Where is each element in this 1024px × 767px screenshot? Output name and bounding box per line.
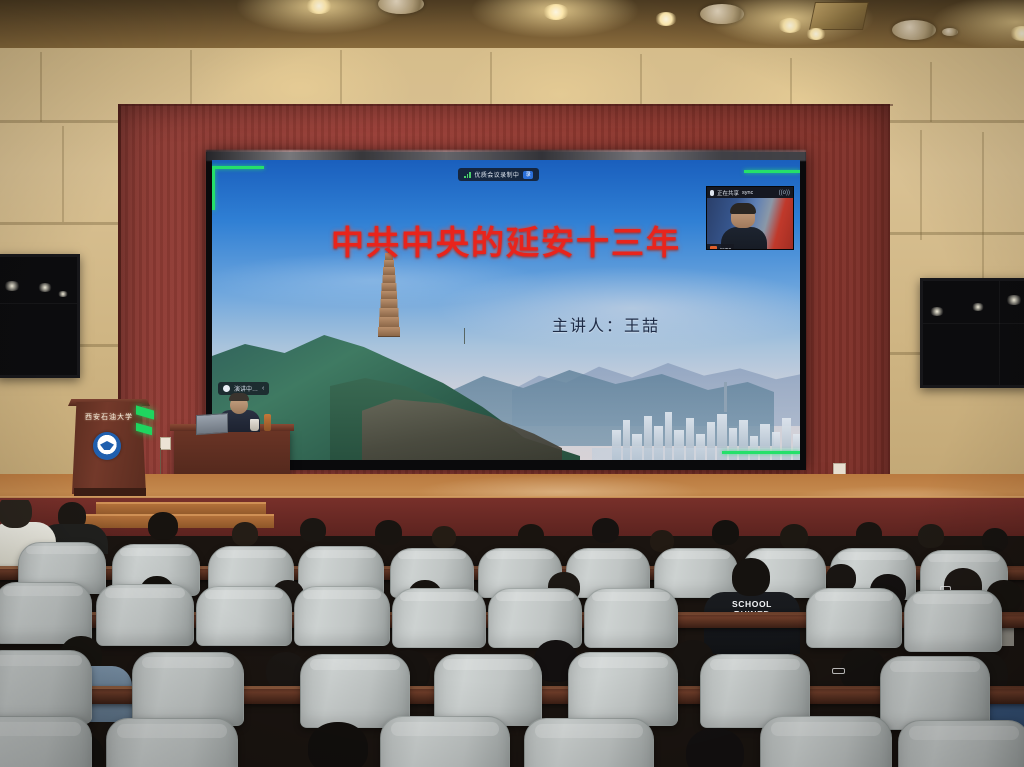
power-cable: [160, 448, 161, 474]
record-badge[interactable]: 录: [523, 171, 533, 179]
slide-river: [592, 448, 800, 460]
seat[interactable]: [96, 584, 194, 646]
audience-head: [982, 528, 1008, 552]
display-glare: [57, 291, 69, 297]
wall-trim: [884, 232, 1024, 235]
wall-panel-seam: [920, 130, 922, 240]
wall-display-left[interactable]: [0, 254, 80, 378]
conference-recording-bar[interactable]: 优质会议录制中 录: [458, 168, 539, 181]
seat[interactable]: [392, 588, 486, 648]
glasses-icon: [832, 668, 845, 674]
pip-participant-name: 正在共享: [717, 189, 739, 197]
user-icon: [710, 246, 717, 250]
audience-area: SCHOOL RUINED MY: [0, 500, 1024, 767]
microphone-icon: [710, 190, 714, 196]
slide-antenna: [464, 328, 465, 344]
audience-head: [518, 524, 544, 547]
ceiling-speaker-icon: [700, 4, 744, 24]
audience-head: [308, 722, 368, 767]
audience-head: [732, 558, 770, 596]
wall-panel-seam: [930, 62, 932, 122]
recording-label: 优质会议录制中: [475, 170, 520, 179]
seat[interactable]: [568, 652, 678, 726]
seat[interactable]: [524, 718, 654, 767]
wall-panel-seam: [62, 126, 64, 222]
share-border-top-left: [212, 166, 264, 169]
presenter-hair: [229, 393, 249, 401]
downlight-icon: [655, 12, 677, 26]
avatar: [223, 385, 230, 392]
audience-head: [712, 520, 739, 545]
audience-head: [918, 524, 944, 548]
wifi-icon: ((o)): [779, 190, 790, 196]
ceiling-speaker-icon: [942, 28, 958, 36]
signal-bars-icon: [464, 172, 471, 178]
seat[interactable]: [106, 718, 238, 767]
slide-tv-tower: [724, 382, 727, 412]
seat[interactable]: [132, 652, 244, 726]
seat[interactable]: [904, 590, 1002, 652]
downlight-icon: [778, 18, 802, 33]
pip-video-tile[interactable]: 正在共享 sync ((o)) sync: [706, 186, 794, 250]
slide-city-skyline: [608, 372, 800, 460]
downlight-icon: [806, 28, 826, 40]
audience-head: [232, 522, 258, 546]
seat[interactable]: [488, 588, 582, 648]
display-glare: [929, 307, 945, 316]
pip-participant-sub: sync: [742, 190, 753, 196]
university-crest-logo: [93, 432, 121, 460]
presentation-screen[interactable]: 中共中央的延安十三年 主讲人：王喆 优质会议录制中 录 演讲中… ‹ 正在共享 …: [212, 160, 800, 460]
podium-school-name: 西安石油大学: [78, 412, 140, 422]
wall-outlet-icon: [160, 437, 171, 450]
seat[interactable]: [0, 650, 92, 724]
ceiling-vent-icon: [809, 2, 869, 30]
pip-video-feed: [707, 198, 793, 249]
share-border-bottom-right: [722, 451, 800, 454]
chevron-left-icon[interactable]: ‹: [262, 385, 264, 392]
display-glare: [1005, 295, 1023, 305]
laptop-icon[interactable]: [196, 413, 228, 435]
wall-trim: [0, 222, 125, 225]
audience-head: [686, 728, 744, 767]
pip-name-badge: sync: [707, 244, 734, 250]
wall-display-right[interactable]: [920, 278, 1024, 388]
ceiling-speaker-icon: [892, 20, 936, 40]
audience-head: [856, 522, 882, 546]
audience-head: [780, 524, 808, 550]
seat[interactable]: [584, 588, 678, 648]
display-glare: [3, 281, 21, 291]
audience-head: [0, 500, 32, 528]
pip-title-bar: 正在共享 sync ((o)): [707, 187, 793, 198]
display-seam: [999, 281, 1000, 385]
seat[interactable]: [760, 716, 892, 767]
share-border-top-right: [744, 170, 800, 173]
seat[interactable]: [196, 586, 292, 646]
slide-presenter: 主讲人：王喆: [552, 312, 660, 336]
seat[interactable]: [0, 716, 92, 767]
speaking-label: 演讲中…: [234, 384, 258, 393]
seat[interactable]: [380, 716, 510, 767]
display-glare: [37, 283, 53, 292]
wall-panel-seam: [40, 52, 42, 122]
seat[interactable]: [0, 582, 92, 644]
audience-head: [148, 512, 178, 540]
seat[interactable]: [294, 586, 390, 646]
seat[interactable]: [880, 656, 990, 730]
lecture-hall-photo: 中共中央的延安十三年 主讲人：王喆 优质会议录制中 录 演讲中… ‹ 正在共享 …: [0, 0, 1024, 767]
bottle-icon: [264, 414, 271, 431]
seat[interactable]: [806, 588, 902, 648]
display-seam: [0, 303, 77, 304]
cup-icon: [250, 419, 259, 431]
audience-head: [432, 526, 456, 548]
pip-badge-name: sync: [720, 247, 731, 251]
podium-base: [74, 488, 146, 496]
downlight-icon: [543, 4, 569, 20]
seat[interactable]: [898, 720, 1024, 767]
display-glare: [971, 303, 985, 311]
share-border-left: [212, 166, 215, 210]
display-seam: [923, 323, 1024, 324]
audience-head: [375, 520, 402, 545]
audience-head: [592, 518, 619, 543]
pip-person-hair: [730, 203, 756, 214]
audience-head: [300, 518, 326, 542]
